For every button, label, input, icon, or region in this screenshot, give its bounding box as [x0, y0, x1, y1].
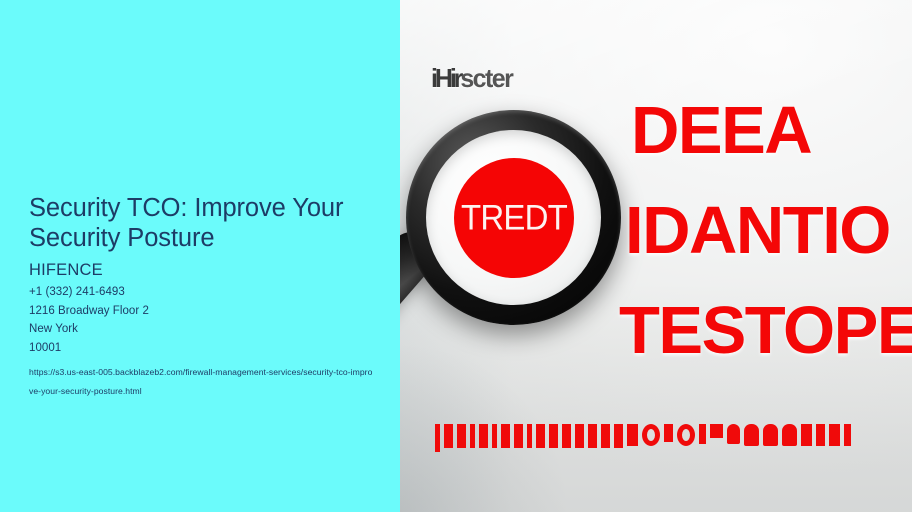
barcode-segment [699, 424, 706, 444]
barcode-segment [614, 424, 623, 448]
cover-small-header: iHirscter [431, 63, 512, 93]
barcode-segment [601, 424, 610, 448]
phone-number: +1 (332) 241-6493 [29, 283, 379, 302]
brand-name: HIFENCE [29, 260, 379, 280]
magnifier-badge-label: TREDT [461, 198, 567, 238]
barcode-segment [782, 424, 797, 446]
cover-headline-line-2: IDANTIO [625, 181, 912, 281]
source-url[interactable]: https://s3.us-east-005.backblazeb2.com/f… [29, 363, 374, 401]
barcode-segment [536, 424, 545, 448]
barcode-segment [514, 424, 523, 448]
barcode-segment [588, 424, 597, 448]
barcode-segment [501, 424, 510, 448]
cover-headline-line-1: DEEA [631, 81, 912, 181]
barcode-segment [801, 424, 812, 446]
cover-small-header-part1: iHir [431, 63, 460, 93]
page-root: Security TCO: Improve Your Security Post… [0, 0, 912, 512]
barcode-segment [816, 424, 825, 446]
magnifier-lens: TREDT [426, 130, 601, 305]
barcode-segment [763, 424, 778, 446]
city: New York [29, 320, 379, 339]
barcode-segment [829, 424, 840, 446]
cover-small-header-part2: scter [460, 63, 512, 93]
magnifier-red-badge: TREDT [454, 158, 574, 278]
barcode-segment [627, 424, 638, 446]
barcode-segment [470, 424, 475, 448]
barcode-segment [710, 424, 723, 438]
postal-code: 10001 [29, 339, 379, 358]
barcode-segment [457, 424, 466, 448]
barcode-segment [444, 424, 453, 448]
barcode-segment [527, 424, 532, 448]
barcode-segment [727, 424, 740, 444]
barcode-segment [664, 424, 673, 442]
barcode-segment [492, 424, 497, 448]
cover-headline: DEEA IDANTIO TESTOPEN [631, 81, 912, 381]
barcode-segment [435, 424, 440, 452]
barcode-segment [575, 424, 584, 448]
barcode-strip [435, 424, 855, 452]
barcode-segment [744, 424, 759, 446]
magnifier-icon: TREDT [406, 110, 621, 325]
document-info-panel: Security TCO: Improve Your Security Post… [0, 0, 400, 512]
cover-image: iHirscter TREDT DEEA IDANTIO TESTOPEN [400, 0, 912, 512]
barcode-segment [844, 424, 851, 446]
barcode-segment [549, 424, 558, 448]
page-title: Security TCO: Improve Your Security Post… [29, 193, 374, 253]
cover-headline-line-3: TESTOPEN [619, 281, 912, 381]
street-address: 1216 Broadway Floor 2 [29, 302, 379, 321]
info-block: Security TCO: Improve Your Security Post… [29, 193, 379, 401]
barcode-segment [677, 424, 695, 446]
magnifier-ring: TREDT [406, 110, 621, 325]
barcode-segment [562, 424, 571, 448]
barcode-segment [642, 424, 660, 446]
barcode-segment [479, 424, 488, 448]
